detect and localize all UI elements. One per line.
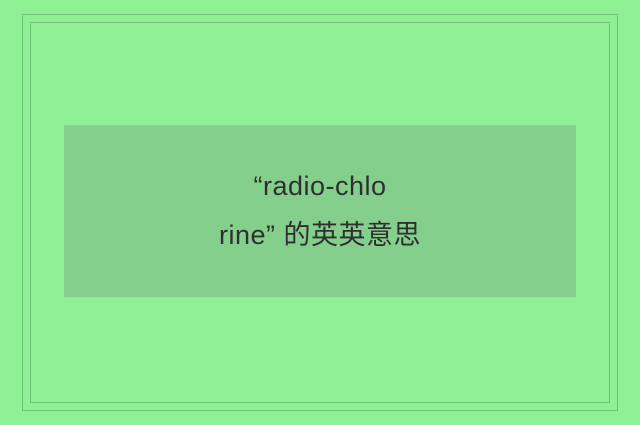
page-canvas: “radio-chlo rine” 的英英意思 (0, 0, 640, 425)
banner-line-2: rine” 的英英意思 (219, 211, 421, 260)
banner-line-1: “radio-chlo (253, 162, 386, 211)
banner-text-block: “radio-chlo rine” 的英英意思 (64, 125, 576, 297)
title-banner: “radio-chlo rine” 的英英意思 (64, 125, 576, 297)
